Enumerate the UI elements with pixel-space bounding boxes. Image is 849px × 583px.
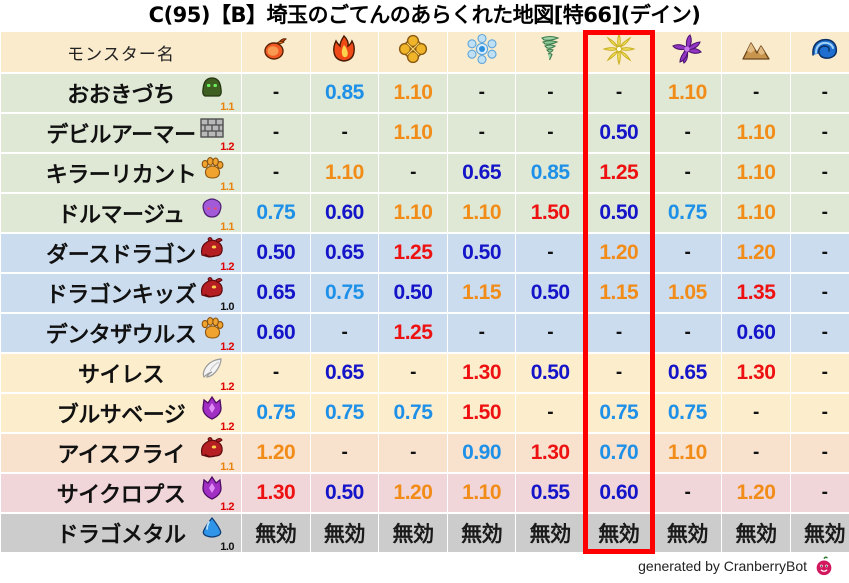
resistance-value-cell: - (448, 314, 516, 352)
column-header-starburst-icon[interactable] (585, 32, 653, 72)
monster-name-cell: デンタザウルス1.2 (1, 314, 241, 352)
table-row: ドルマージュ1.10.750.601.101.101.500.500.751.1… (1, 194, 849, 232)
column-header-monster-name: モンスター名 (1, 32, 241, 72)
resistance-value-cell: 0.75 (311, 274, 379, 312)
resistance-value-cell: - (654, 154, 722, 192)
monster-name-cell: ダースドラゴン1.2 (1, 234, 241, 272)
resistance-value-cell: 1.15 (448, 274, 516, 312)
monster-version-label: 1.2 (220, 142, 234, 153)
monster-name-label: アイスフライ (57, 437, 184, 469)
white-wing-icon (197, 355, 227, 381)
monster-name-label: サイレス (78, 357, 164, 389)
table-row: ドラゴメタル1.0無効無効無効無効無効無効無効無効無効 (1, 514, 849, 552)
resistance-value-cell: 1.20 (722, 474, 790, 512)
resistance-value-cell: - (242, 354, 310, 392)
resistance-value-cell: - (791, 354, 849, 392)
resistance-value-cell: 0.75 (311, 394, 379, 432)
resistance-value-cell: 1.30 (516, 434, 584, 472)
page-title: C(95)【B】埼玉のごてんのあらくれた地図[特66](デイン) (0, 0, 849, 30)
resistance-value-cell: 1.10 (379, 194, 447, 232)
purple-trident-icon (197, 475, 227, 501)
resistance-value-cell: - (791, 314, 849, 352)
monster-name-cell: サイクロプス1.2 (1, 474, 241, 512)
resistance-value-cell: 1.10 (722, 114, 790, 152)
resistance-value-cell: - (516, 394, 584, 432)
table-row: ドラゴンキッズ1.00.650.750.501.150.501.151.051.… (1, 274, 849, 312)
monster-name-label: おおきづち (67, 77, 175, 109)
tornado-icon (533, 33, 567, 67)
monster-icon-wrap: 1.2 (189, 355, 235, 391)
resistance-value-cell: - (791, 154, 849, 192)
monster-version-label: 1.1 (220, 102, 234, 113)
monster-icon-wrap: 1.2 (189, 235, 235, 271)
resistance-value-cell: 無効 (516, 514, 584, 552)
resistance-value-cell: - (654, 114, 722, 152)
starburst-icon (602, 33, 636, 67)
resistance-value-cell: - (516, 314, 584, 352)
resistance-value-cell: 1.35 (722, 274, 790, 312)
monster-name-cell: デビルアーマー1.2 (1, 114, 241, 152)
monster-name-label: デビルアーマー (46, 117, 195, 149)
resistance-value-cell: 1.30 (448, 354, 516, 392)
footer-text: generated by CranberryBot (638, 558, 807, 574)
explosion-icon (396, 33, 430, 67)
resistance-value-cell: 0.60 (311, 194, 379, 232)
resistance-value-cell: - (722, 434, 790, 472)
monster-icon-wrap: 1.1 (189, 155, 235, 191)
monster-name-label: サイクロプス (57, 477, 186, 509)
table-header-row: モンスター名 (1, 32, 849, 72)
resistance-value-cell: - (516, 234, 584, 272)
resistance-value-cell: 0.75 (585, 394, 653, 432)
resistance-value-cell: - (242, 154, 310, 192)
resistance-value-cell: - (791, 274, 849, 312)
resistance-value-cell: 1.25 (585, 154, 653, 192)
cranberry-icon (813, 555, 835, 577)
resistance-value-cell: - (791, 474, 849, 512)
resistance-value-cell: 1.10 (654, 434, 722, 472)
resistance-value-cell: 無効 (448, 514, 516, 552)
red-dragon-icon (197, 235, 227, 261)
resistance-value-cell: 0.50 (516, 354, 584, 392)
resistance-value-cell: - (585, 74, 653, 112)
resistance-value-cell: 0.60 (585, 474, 653, 512)
resistance-value-cell: - (379, 154, 447, 192)
resistance-value-cell: - (379, 434, 447, 472)
resistance-value-cell: 0.50 (516, 274, 584, 312)
monster-version-label: 1.2 (220, 422, 234, 433)
resistance-value-cell: 0.50 (448, 234, 516, 272)
resistance-value-cell: 1.30 (242, 474, 310, 512)
green-blob-icon (197, 75, 227, 101)
column-header-tornado-icon[interactable] (516, 32, 584, 72)
resistance-value-cell: 1.10 (654, 74, 722, 112)
resistance-value-cell: 1.20 (585, 234, 653, 272)
monster-name-label: ドルマージュ (57, 197, 184, 229)
resistance-value-cell: 1.20 (722, 234, 790, 272)
resistance-value-cell: 0.75 (242, 394, 310, 432)
monster-version-label: 1.2 (220, 382, 234, 393)
snowflake-icon (465, 33, 499, 67)
resistance-value-cell: 0.65 (242, 274, 310, 312)
resistance-value-cell: - (311, 114, 379, 152)
monster-name-label: ブルサベージ (57, 397, 186, 429)
resistance-value-cell: 1.25 (379, 314, 447, 352)
monster-icon-wrap: 1.2 (189, 115, 235, 151)
resistance-value-cell: 0.55 (516, 474, 584, 512)
monster-name-label: ドラゴンキッズ (46, 277, 197, 309)
resistance-value-cell: 0.75 (242, 194, 310, 232)
monster-icon-wrap: 1.1 (189, 195, 235, 231)
resistance-value-cell: 1.10 (379, 74, 447, 112)
resistance-value-cell: 1.05 (654, 274, 722, 312)
flame-icon (327, 33, 361, 67)
monster-icon-wrap: 1.1 (189, 435, 235, 471)
resistance-value-cell: 無効 (242, 514, 310, 552)
resistance-value-cell: - (791, 434, 849, 472)
column-header-purple-pinwheel-icon[interactable] (654, 32, 722, 72)
monster-name-cell: ドルマージュ1.1 (1, 194, 241, 232)
monster-name-label: ドラゴメタル (56, 517, 185, 549)
resistance-value-cell: 0.75 (654, 394, 722, 432)
resistance-value-cell: - (654, 474, 722, 512)
resistance-value-cell: - (722, 394, 790, 432)
monster-version-label: 1.1 (220, 182, 234, 193)
resistance-value-cell: 0.65 (311, 354, 379, 392)
resistance-value-cell: 1.10 (311, 154, 379, 192)
monster-icon-wrap: 1.2 (189, 395, 235, 431)
resistance-value-cell: - (791, 394, 849, 432)
resistance-value-cell: 0.60 (242, 314, 310, 352)
resistance-value-cell: 無効 (379, 514, 447, 552)
resistance-value-cell: - (791, 114, 849, 152)
table-row: ブルサベージ1.20.750.750.751.50-0.750.75-- (1, 394, 849, 432)
resistance-value-cell: 1.15 (585, 274, 653, 312)
red-dragon-icon (197, 275, 227, 301)
resistance-value-cell: 0.50 (585, 194, 653, 232)
resistance-value-cell: 1.10 (722, 154, 790, 192)
resistance-value-cell: 無効 (585, 514, 653, 552)
resistance-value-cell: 0.85 (311, 74, 379, 112)
resistance-value-cell: - (379, 354, 447, 392)
purple-trident-icon (197, 395, 227, 421)
footer-credit: generated by CranberryBot (638, 555, 835, 577)
table-row: デンタザウルス1.20.60-1.25----0.60- (1, 314, 849, 352)
resistance-value-cell: 0.50 (311, 474, 379, 512)
column-header-flame-icon[interactable] (311, 32, 379, 72)
table-row: サイクロプス1.21.300.501.201.100.550.60-1.20- (1, 474, 849, 512)
resistance-value-cell: - (791, 194, 849, 232)
paw-icon (197, 155, 227, 181)
table-row: サイレス1.2-0.65-1.300.50-0.651.30- (1, 354, 849, 392)
table-row: おおきづち1.1-0.851.10---1.10-- (1, 74, 849, 112)
monster-name-cell: おおきづち1.1 (1, 74, 241, 112)
resistance-value-cell: 0.50 (242, 234, 310, 272)
table-row: アイスフライ1.11.20--0.901.300.701.10-- (1, 434, 849, 472)
resistance-value-cell: 0.75 (654, 194, 722, 232)
column-header-wave-icon[interactable] (791, 32, 849, 72)
monster-name-cell: アイスフライ1.1 (1, 434, 241, 472)
monster-name-label: キラーリカント (46, 157, 197, 189)
column-header-explosion-icon[interactable] (379, 32, 447, 72)
resistance-value-cell: - (791, 234, 849, 272)
resistance-value-cell: - (654, 314, 722, 352)
monster-icon-wrap: 1.2 (189, 475, 235, 511)
resistance-value-cell: 0.70 (585, 434, 653, 472)
resistance-value-cell: - (311, 434, 379, 472)
monster-version-label: 1.1 (220, 222, 234, 233)
monster-name-cell: ドラゴメタル1.0 (1, 514, 241, 552)
monster-version-label: 1.2 (220, 262, 234, 273)
brick-armor-icon (197, 115, 227, 141)
resistance-value-cell: 無効 (654, 514, 722, 552)
resistance-value-cell: 0.90 (448, 434, 516, 472)
resistance-value-cell: 0.60 (722, 314, 790, 352)
table-row: キラーリカント1.1-1.10-0.650.851.25-1.10- (1, 154, 849, 192)
resistance-value-cell: 0.50 (585, 114, 653, 152)
monster-name-cell: キラーリカント1.1 (1, 154, 241, 192)
resistance-value-cell: 1.20 (379, 474, 447, 512)
purple-ghost-icon (197, 195, 227, 221)
resistance-value-cell: - (311, 314, 379, 352)
column-header-mountain-icon[interactable] (722, 32, 790, 72)
monster-name-label: ダースドラゴン (46, 237, 195, 269)
paw-icon (197, 315, 227, 341)
resistance-value-cell: - (791, 74, 849, 112)
resistance-value-cell: 1.10 (448, 474, 516, 512)
resistance-value-cell: 0.65 (654, 354, 722, 392)
resistance-value-cell: 1.25 (379, 234, 447, 272)
monster-version-label: 1.2 (220, 502, 234, 513)
resistance-value-cell: 0.50 (379, 274, 447, 312)
table-row: ダースドラゴン1.20.500.651.250.50-1.20-1.20- (1, 234, 849, 272)
resistance-value-cell: - (516, 74, 584, 112)
monster-icon-wrap: 1.1 (189, 75, 235, 111)
monster-name-cell: サイレス1.2 (1, 354, 241, 392)
resistance-value-cell: 1.10 (722, 194, 790, 232)
resistance-value-cell: 無効 (722, 514, 790, 552)
red-dragon-icon (197, 435, 227, 461)
resistance-value-cell: 無効 (791, 514, 849, 552)
resistance-value-cell: 無効 (311, 514, 379, 552)
table-body: おおきづち1.1-0.851.10---1.10--デビルアーマー1.2--1.… (1, 74, 849, 552)
resistance-value-cell: - (242, 74, 310, 112)
resistance-value-cell: - (448, 74, 516, 112)
monster-icon-wrap: 1.0 (189, 275, 235, 311)
table-row: デビルアーマー1.2--1.10--0.50-1.10- (1, 114, 849, 152)
mountain-icon (739, 33, 773, 67)
resistance-value-cell: 0.65 (448, 154, 516, 192)
monster-version-label: 1.2 (220, 342, 234, 353)
resistance-table: モンスター名 おおきづち1.1-0.851.10---1.10--デビルアーマー… (0, 30, 849, 554)
column-header-meteor-fire-icon[interactable] (242, 32, 310, 72)
monster-icon-wrap: 1.2 (189, 315, 235, 351)
resistance-value-cell: 0.65 (311, 234, 379, 272)
resistance-value-cell: 0.85 (516, 154, 584, 192)
monster-version-label: 1.0 (220, 302, 234, 313)
resistance-value-cell: 1.50 (516, 194, 584, 232)
resistance-value-cell: - (722, 74, 790, 112)
resistance-value-cell: - (516, 114, 584, 152)
resistance-value-cell: - (585, 354, 653, 392)
resistance-value-cell: 0.75 (379, 394, 447, 432)
monster-name-cell: ブルサベージ1.2 (1, 394, 241, 432)
purple-pinwheel-icon (670, 33, 704, 67)
resistance-value-cell: - (448, 114, 516, 152)
monster-version-label: 1.0 (220, 542, 234, 553)
resistance-value-cell: 1.10 (379, 114, 447, 152)
wave-icon (808, 33, 842, 67)
meteor-fire-icon (259, 33, 293, 67)
resistance-value-cell: 1.50 (448, 394, 516, 432)
resistance-value-cell: - (585, 314, 653, 352)
blue-slime-icon (197, 515, 227, 541)
column-header-snowflake-icon[interactable] (448, 32, 516, 72)
monster-name-cell: ドラゴンキッズ1.0 (1, 274, 241, 312)
resistance-value-cell: 1.10 (448, 194, 516, 232)
resistance-value-cell: - (242, 114, 310, 152)
resistance-value-cell: 1.30 (722, 354, 790, 392)
resistance-value-cell: 1.20 (242, 434, 310, 472)
monster-name-label: デンタザウルス (46, 317, 197, 349)
monster-icon-wrap: 1.0 (189, 515, 235, 551)
monster-version-label: 1.1 (220, 462, 234, 473)
resistance-value-cell: - (654, 234, 722, 272)
